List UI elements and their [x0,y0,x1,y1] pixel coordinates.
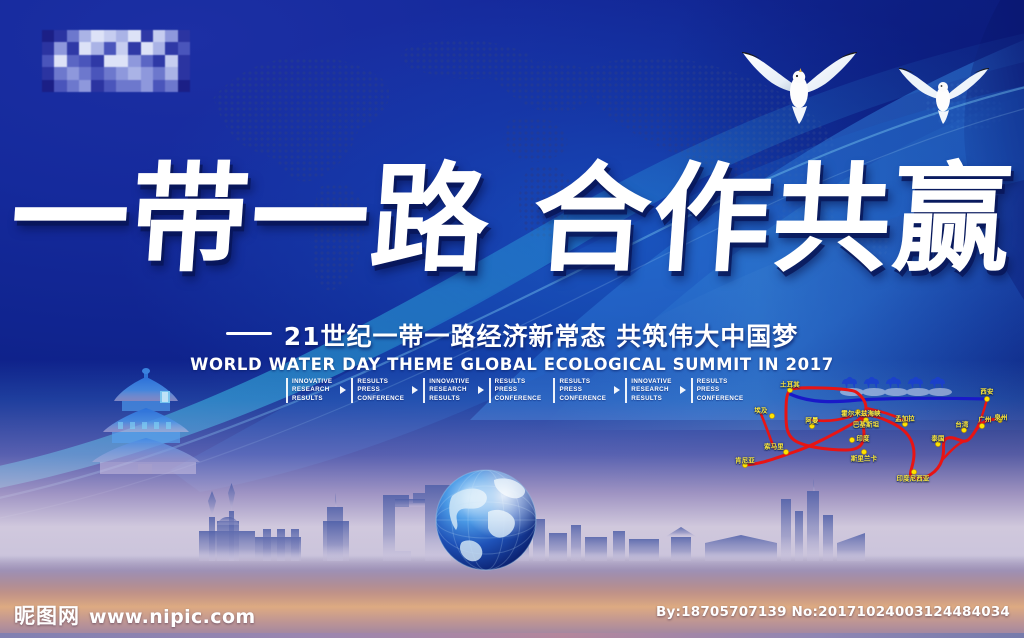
subtitle-chinese-text: 21世纪一带一路经济新常态 共筑伟大中国梦 [284,322,799,351]
logo-mosaic-tile [128,67,140,79]
process-chip: INNOVATIVERESEARCHRESULTS [625,378,671,403]
process-chip-line: RESULTS [697,378,744,386]
logo-mosaic-tile [42,42,54,54]
logo-mosaic-tile [67,55,79,67]
logo-mosaic-tile [42,55,54,67]
logo-mosaic-tile [67,80,79,92]
process-chip-lines: INNOVATIVERESEARCHRESULTS [292,378,332,403]
site-watermark: 昵图网 www.nipic.com [14,600,256,630]
process-chip-line: CONFERENCE [559,395,606,403]
logo-mosaic-tile [153,30,165,42]
logo-mosaic-tile [104,30,116,42]
logo-mosaic-tile [141,67,153,79]
logo-mosaic-tile [116,80,128,92]
process-chip: RESULTSPRESSCONFERENCE [489,378,542,403]
logo-mosaic-tile [141,42,153,54]
map-city-label: 霍尔木兹海峡 [841,409,881,418]
logo-mosaic-tile [54,55,66,67]
logo-mosaic-tile [178,42,190,54]
map-city-label: 土耳其 [780,380,800,389]
process-chip-line: RESULTS [357,378,404,386]
process-chip-lines: INNOVATIVERESEARCHRESULTS [631,378,671,403]
process-chip-lines: INNOVATIVERESEARCHRESULTS [429,378,469,403]
logo-mosaic-tile [153,80,165,92]
chip-arrow-icon [680,386,686,394]
process-chip-line: PRESS [495,386,542,394]
process-chip-line: PRESS [697,386,744,394]
chip-arrow-icon [614,386,620,394]
logo-mosaic-tile [79,42,91,54]
logo-mosaic-tile [165,67,177,79]
logo-mosaic-tile [153,67,165,79]
logo-mosaic-tile [141,80,153,92]
logo-mosaic-tile [91,67,103,79]
process-chip-lines: RESULTSPRESSCONFERENCE [495,378,542,403]
process-chip-line: CONFERENCE [495,395,542,403]
map-city-label: 埃及 [754,406,767,415]
logo-mosaic-tile [42,30,54,42]
logo-mosaic-tile [104,55,116,67]
logo-mosaic-tile [116,67,128,79]
subtitle-dash [226,332,272,335]
logo-mosaic-tile [79,67,91,79]
title-group-a: 一带一路 [6,160,494,278]
logo-mosaic-tile [42,80,54,92]
process-chip: RESULTSPRESSCONFERENCE [553,378,606,403]
process-chip-lines: RESULTSPRESSCONFERENCE [697,378,744,403]
process-chip-line: RESEARCH [429,386,469,394]
seagull-icon-small [898,62,990,128]
map-city-label: 阿曼 [805,416,818,425]
process-chip-line: INNOVATIVE [429,378,469,386]
logo-mosaic-tile [178,80,190,92]
process-chip-line: CONFERENCE [697,395,744,403]
process-chip-line: RESULTS [429,395,469,403]
logo-mosaic-tile [91,42,103,54]
logo-mosaic-tile [54,67,66,79]
logo-mosaic-tile [178,67,190,79]
logo-mosaic-tile [116,55,128,67]
process-chip-lines: RESULTSPRESSCONFERENCE [357,378,404,403]
footer-strip [0,633,1024,638]
map-city-label: 印度 [856,434,869,443]
process-chip-line: RESULTS [292,395,332,403]
map-city-label: 斯里兰卡 [851,454,877,463]
logo-mosaic-tile [128,30,140,42]
chip-arrow-icon [478,386,484,394]
chip-arrow-icon [412,386,418,394]
map-city-label: 孟加拉 [895,414,915,423]
logo-mosaic-tile [104,42,116,54]
logo-mosaic-tile [91,30,103,42]
process-chip-row: INNOVATIVERESEARCHRESULTSRESULTSPRESSCON… [286,378,747,403]
site-name-cn: 昵图网 [14,600,80,630]
process-chip-line: INNOVATIVE [292,378,332,386]
subtitle-chinese: 21世纪一带一路经济新常态 共筑伟大中国梦 [0,317,1024,353]
logo-mosaic-tile [67,30,79,42]
logo-mosaic-tile [165,42,177,54]
site-url: www.nipic.com [89,606,256,628]
logo-mosaic-tile [165,55,177,67]
process-chip-line: PRESS [357,386,404,394]
map-city-label: 西安 [980,387,993,396]
logo-mosaic-tile [153,42,165,54]
process-chip: INNOVATIVERESEARCHRESULTS [286,378,332,403]
chip-arrow-icon [340,386,346,394]
logo-mosaic-tile [67,67,79,79]
map-city-label: 泉州 [994,413,1007,422]
title-group-b: 合作共赢 [529,160,1017,278]
process-chip-line: CONFERENCE [357,395,404,403]
map-city-label: 广州 [978,415,991,424]
map-city-label: 巴基斯坦 [853,420,879,429]
logo-mosaic-tile [79,30,91,42]
map-city-label: 印度尼西亚 [897,474,930,483]
upload-credit: By:18705707139 No:20171024003124484034 [656,604,1010,620]
logo-mosaic-tile [104,67,116,79]
page-title: 一带一路 合作共赢 [0,160,1024,278]
map-city-label: 台湾 [955,420,968,429]
censored-logo-mosaic [42,30,190,92]
process-chip-line: PRESS [559,386,606,394]
logo-mosaic-tile [153,55,165,67]
logo-mosaic-tile [128,55,140,67]
process-chip-line: RESULTS [559,378,606,386]
earth-globe-icon [432,466,540,574]
seagull-icon-large [740,44,860,128]
logo-mosaic-tile [104,80,116,92]
logo-mosaic-tile [165,80,177,92]
poster-canvas: 一带一路 合作共赢 21世纪一带一路经济新常态 共筑伟大中国梦 WORLD WA… [0,0,1024,638]
process-chip: INNOVATIVERESEARCHRESULTS [423,378,469,403]
camel-caravan-silhouette [842,377,945,389]
process-chip: RESULTSPRESSCONFERENCE [351,378,404,403]
process-chip-line: RESULTS [495,378,542,386]
logo-mosaic-tile [178,55,190,67]
logo-mosaic-tile [141,55,153,67]
process-chip-lines: RESULTSPRESSCONFERENCE [559,378,606,403]
logo-mosaic-tile [91,55,103,67]
logo-mosaic-tile [54,30,66,42]
logo-mosaic-tile [42,67,54,79]
logo-mosaic-tile [54,42,66,54]
process-chip: RESULTSPRESSCONFERENCE [691,378,744,403]
belt-and-road-route-map: 土耳其埃及阿曼索马里肯尼亚霍尔木兹海峡巴基斯坦印度斯里兰卡孟加拉印度尼西亚泰国台… [742,368,1010,488]
logo-mosaic-tile [116,42,128,54]
logo-mosaic-tile [79,80,91,92]
process-chip-line: INNOVATIVE [631,378,671,386]
logo-mosaic-tile [91,80,103,92]
process-chip-line: RESEARCH [631,386,671,394]
logo-mosaic-tile [128,42,140,54]
logo-mosaic-tile [141,30,153,42]
logo-mosaic-tile [67,42,79,54]
logo-mosaic-tile [79,55,91,67]
map-city-label: 索马里 [764,442,784,451]
logo-mosaic-tile [54,80,66,92]
logo-mosaic-tile [178,30,190,42]
logo-mosaic-tile [116,30,128,42]
logo-mosaic-tile [128,80,140,92]
map-city-label: 泰国 [931,434,944,443]
map-city-label: 肯尼亚 [735,456,755,465]
process-chip-line: RESEARCH [292,386,332,394]
process-chip-line: RESULTS [631,395,671,403]
logo-mosaic-tile [165,30,177,42]
